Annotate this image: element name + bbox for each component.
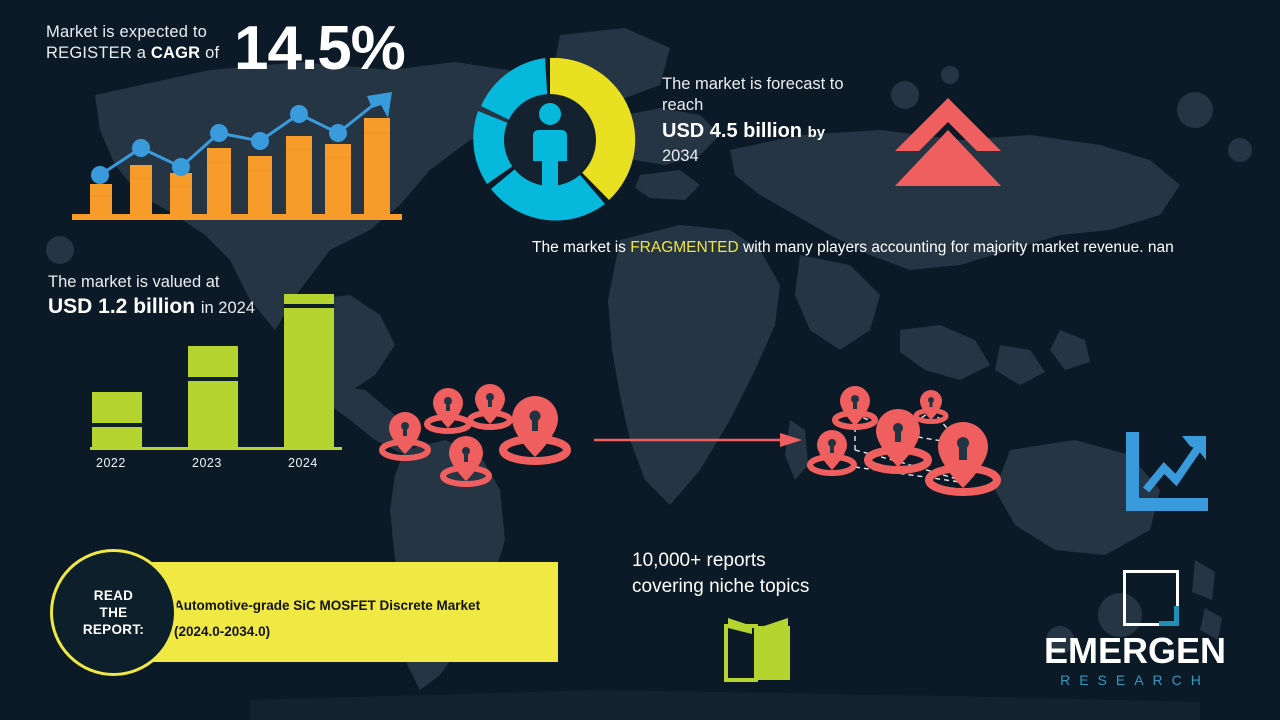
green-bar-2023: [188, 346, 238, 448]
open-book-icon: [718, 612, 798, 684]
cagr-value: 14.5%: [234, 12, 405, 86]
green-bar-2024-divider: [284, 304, 334, 308]
double-chevron-up-icon: [893, 96, 1003, 188]
market-share-donut-chart: [462, 52, 638, 228]
logo-accent-bar-vertical: [1174, 606, 1179, 626]
valued-caption: The market is valued at: [48, 272, 348, 293]
read-report-line1: READ: [94, 588, 133, 603]
cagr-line2-post: of: [200, 44, 219, 62]
fragmented-pre: The market is: [532, 239, 630, 256]
reports-line2: covering niche topics: [632, 574, 892, 600]
cagr-line2-pre: REGISTER a: [46, 44, 151, 62]
emergen-research-logo: EMERGEN RESEARCH: [1010, 570, 1260, 700]
reports-count-block: 10,000+ reports covering niche topics: [632, 548, 892, 600]
read-report-button[interactable]: READ THE REPORT:: [50, 549, 177, 676]
logo-subtitle: RESEARCH: [1010, 672, 1260, 688]
fragmented-highlight: FRAGMENTED: [630, 239, 739, 256]
read-report-line2: THE: [100, 605, 128, 620]
cagr-caption: Market is expected to REGISTER a CAGR of: [46, 22, 246, 64]
fragmented-statement: The market is FRAGMENTED with many playe…: [532, 236, 1212, 260]
green-chart-baseline: [90, 447, 342, 450]
forecast-block: The market is forecast to reach USD 4.5 …: [662, 74, 887, 167]
logo-square-mark: [1123, 570, 1179, 626]
cagr-block: Market is expected to REGISTER a CAGR of…: [46, 22, 416, 64]
map-pin-cluster-icon: [378, 378, 578, 488]
orange-growth-bar-chart: [62, 78, 412, 226]
read-report-banner[interactable]: Automotive-grade SiC MOSFET Discrete Mar…: [148, 562, 558, 662]
green-bar-2023-divider: [188, 377, 238, 381]
green-bar-2022-divider: [92, 423, 142, 427]
blue-trend-arrowhead: [367, 92, 392, 118]
orange-axis-baseline: [72, 214, 402, 220]
reports-line1: 10,000+ reports: [632, 548, 892, 574]
growth-chart-icon: [1122, 428, 1212, 518]
forecast-by-label: by: [808, 124, 826, 141]
green-value-bar-chart: 2022 2023 2024: [70, 295, 350, 470]
report-years: (2024.0-2034.0): [174, 624, 270, 639]
green-bar-2022: [92, 392, 142, 448]
forecast-caption: The market is forecast to reach: [662, 74, 887, 116]
forecast-year: 2034: [662, 146, 887, 167]
right-arrow-icon: [594, 430, 804, 450]
map-pin-network-icon: [800, 382, 1020, 502]
fragmented-post: with many players accounting for majorit…: [739, 239, 1174, 256]
green-tick-2022: 2022: [96, 456, 126, 470]
read-report-label: READ THE REPORT:: [83, 587, 144, 638]
cagr-line1: Market is expected to: [46, 23, 207, 41]
forecast-value: USD 4.5 billion: [662, 120, 802, 142]
read-report-line3: REPORT:: [83, 622, 144, 637]
infographic-canvas: Market is expected to REGISTER a CAGR of…: [0, 0, 1280, 720]
logo-wordmark: EMERGEN: [1010, 630, 1260, 672]
forecast-value-row: USD 4.5 billion by: [662, 118, 887, 146]
green-tick-2024: 2024: [288, 456, 318, 470]
green-tick-2023: 2023: [192, 456, 222, 470]
cagr-line2-bold: CAGR: [151, 44, 200, 62]
report-title: Automotive-grade SiC MOSFET Discrete Mar…: [174, 598, 480, 613]
green-bar-2024: [284, 294, 334, 448]
